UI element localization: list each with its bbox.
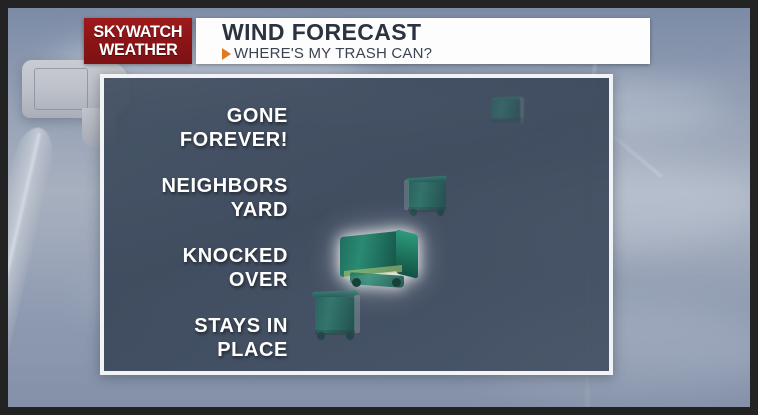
trash-can-icon-neighbors-yard [404, 171, 460, 223]
severity-label-gone-forever: GONE FOREVER! [104, 104, 294, 152]
turbine-nacelle-panel [34, 68, 88, 110]
content-panel: GONE FOREVER! NEIGHBORS YARD KNOCKED OVE… [100, 74, 613, 375]
trash-can-wheel [437, 209, 444, 216]
trash-can-wheel [392, 278, 401, 287]
trash-can-body [315, 297, 355, 333]
trash-can-body [491, 100, 521, 120]
trash-can-handle [354, 295, 360, 333]
trash-can-base-shadow [491, 118, 524, 122]
title-bar: WIND FORECAST WHERE'S MY TRASH CAN? [196, 18, 650, 64]
trash-can-body [408, 182, 446, 210]
severity-label-stays-in-place: STAYS IN PLACE [104, 314, 294, 362]
subheadline: WHERE'S MY TRASH CAN? [234, 45, 432, 62]
subheadline-row: WHERE'S MY TRASH CAN? [222, 45, 650, 62]
trash-can-handle [404, 180, 409, 210]
severity-label-line-1: GONE [104, 104, 288, 128]
severity-label-knocked-over: KNOCKED OVER [104, 244, 294, 292]
severity-label-line-2: PLACE [104, 338, 288, 362]
severity-label-line-1: KNOCKED [104, 244, 288, 268]
trash-can-icon-gone-forever [490, 93, 534, 133]
station-logo-line-1: SKYWATCH [94, 23, 183, 41]
station-logo: SKYWATCH WEATHER [84, 18, 192, 64]
severity-label-line-1: STAYS IN [104, 314, 288, 338]
broadcast-graphic-frame: SKYWATCH WEATHER WIND FORECAST WHERE'S M… [0, 0, 758, 415]
severity-label-line-2: OVER [104, 268, 288, 292]
station-logo-line-2: WEATHER [99, 41, 177, 59]
trash-can-icon-stays-in-place [312, 286, 370, 346]
trash-can-wheel [317, 332, 325, 340]
trash-can-wheel [346, 332, 354, 340]
severity-scale: GONE FOREVER! NEIGHBORS YARD KNOCKED OVE… [104, 78, 294, 371]
graphic-header: SKYWATCH WEATHER WIND FORECAST WHERE'S M… [84, 18, 650, 64]
trash-can-icon-knocked-over [336, 228, 428, 290]
trash-can-wheel [410, 209, 417, 216]
severity-label-line-2: FOREVER! [104, 128, 288, 152]
headline: WIND FORECAST [222, 20, 650, 45]
play-triangle-icon [222, 48, 231, 60]
severity-label-neighbors-yard: NEIGHBORS YARD [104, 174, 294, 222]
severity-label-line-1: NEIGHBORS [104, 174, 288, 198]
severity-label-line-2: YARD [104, 198, 288, 222]
